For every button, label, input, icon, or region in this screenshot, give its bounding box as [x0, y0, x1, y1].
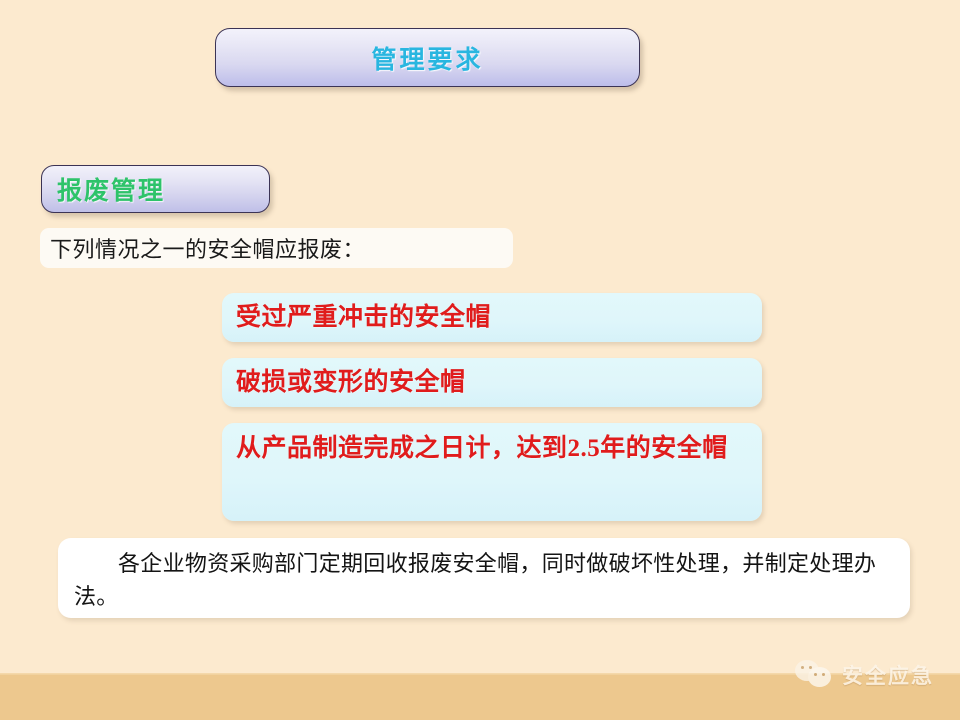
wechat-dot — [822, 673, 825, 676]
bullet-item: 从产品制造完成之日计，达到2.5年的安全帽 — [222, 423, 762, 521]
title-banner: 管理要求 — [215, 28, 640, 87]
intro-box: 下列情况之一的安全帽应报废： — [40, 228, 513, 268]
wechat-dot — [801, 666, 804, 669]
note-box: 各企业物资采购部门定期回收报废安全帽，同时做破坏性处理，并制定处理办法。 — [58, 538, 910, 618]
bullet-text: 从产品制造完成之日计，达到2.5年的安全帽 — [236, 427, 728, 471]
note-text: 各企业物资采购部门定期回收报废安全帽，同时做破坏性处理，并制定处理办法。 — [74, 547, 894, 613]
bullet-item: 破损或变形的安全帽 — [222, 358, 762, 407]
watermark: 安全应急 — [795, 660, 934, 690]
wechat-bubble-front — [808, 667, 831, 687]
bullet-item: 受过严重冲击的安全帽 — [222, 293, 762, 342]
wechat-dot — [809, 666, 812, 669]
bullet-text: 破损或变形的安全帽 — [236, 361, 466, 405]
bullet-text: 受过严重冲击的安全帽 — [236, 296, 491, 340]
wechat-dot — [814, 673, 817, 676]
slide-canvas: 管理要求 报废管理 下列情况之一的安全帽应报废： 受过严重冲击的安全帽 破损或变… — [0, 0, 960, 720]
intro-text: 下列情况之一的安全帽应报废： — [50, 232, 365, 264]
wechat-icon — [795, 660, 833, 690]
section-tag-scrap-management: 报废管理 — [41, 165, 270, 213]
section-tag-label: 报废管理 — [57, 171, 165, 207]
page-title: 管理要求 — [371, 40, 483, 76]
watermark-label: 安全应急 — [842, 660, 934, 690]
